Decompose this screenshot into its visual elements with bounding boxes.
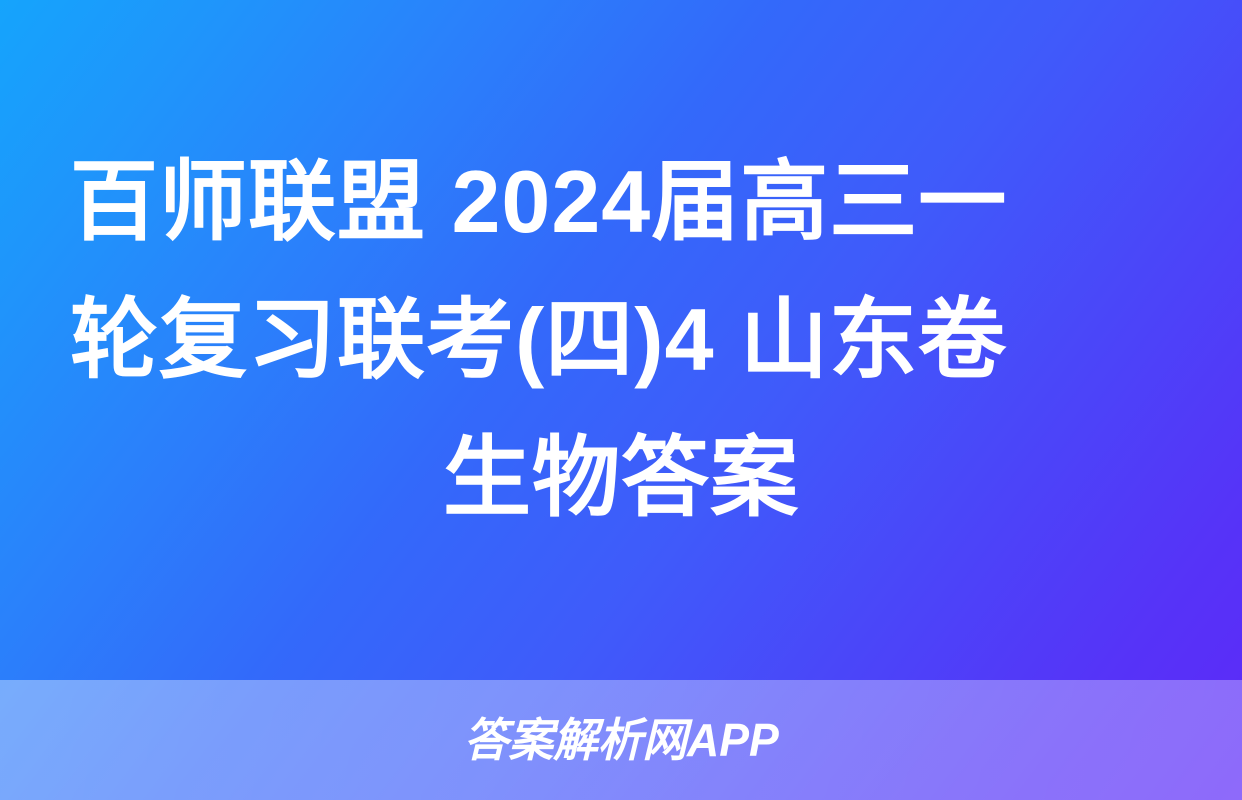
footer-watermark-band: 答案解析网APP: [0, 680, 1242, 800]
page-title-line-1: 百师联盟 2024届高三一: [56, 133, 1186, 271]
page-title-line-3: 生物答案: [56, 409, 1186, 547]
answer-poster-banner: 百师联盟 2024届高三一 轮复习联考(四)4 山东卷 生物答案 答案解析网AP…: [0, 0, 1242, 800]
page-title: 百师联盟 2024届高三一 轮复习联考(四)4 山东卷 生物答案: [56, 133, 1186, 547]
site-watermark-label: 答案解析网APP: [464, 717, 779, 763]
page-title-line-2: 轮复习联考(四)4 山东卷: [56, 271, 1186, 409]
headline-area: 百师联盟 2024届高三一 轮复习联考(四)4 山东卷 生物答案: [0, 0, 1242, 680]
